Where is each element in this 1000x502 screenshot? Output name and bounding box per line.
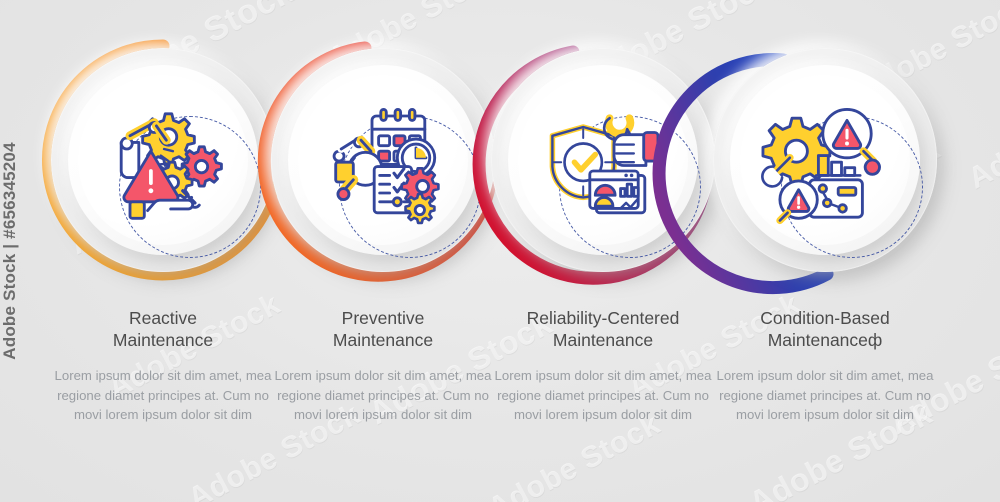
column-reactive-maintenance[interactable]: Reactive Maintenance Lorem ipsum dolor s… xyxy=(38,0,288,502)
column-title: Reliability-Centered Maintenance xyxy=(478,307,728,351)
column-title: Preventive Maintenance xyxy=(258,307,508,351)
circle-condition-based-maintenance[interactable] xyxy=(713,48,937,272)
column-body-text: Lorem ipsum dolor sit dim amet, mea regi… xyxy=(700,366,950,425)
column-body-text: Lorem ipsum dolor sit dim amet, mea regi… xyxy=(478,366,728,425)
column-body-text: Lorem ipsum dolor sit dim amet, mea regi… xyxy=(258,366,508,425)
title-line-1: Preventive xyxy=(342,308,425,328)
robot-arm-warning-gears-hand-icon xyxy=(97,94,229,226)
icon-disc xyxy=(78,75,248,245)
columns-container: Reactive Maintenance Lorem ipsum dolor s… xyxy=(0,0,1000,502)
infographic-canvas: Adobe StockAdobe StockAdobe StockAdobe S… xyxy=(0,0,1000,502)
title-line-1: Reliability-Centered xyxy=(527,308,680,328)
icon-disc xyxy=(298,75,468,245)
title-line-2: Maintenance xyxy=(333,330,433,350)
column-condition-based-maintenance[interactable]: Condition-Based Maintenanceф Lorem ipsum… xyxy=(700,0,950,502)
title-line-2: Maintenance xyxy=(553,330,653,350)
shield-check-hand-wrench-dashboard-icon xyxy=(537,94,669,226)
title-line-2: Maintenanceф xyxy=(768,330,883,350)
icon-disc xyxy=(740,75,910,245)
column-body-text: Lorem ipsum dolor sit dim amet, mea regi… xyxy=(38,366,288,425)
gear-wrench-magnifier-warning-chart-icon xyxy=(759,94,891,226)
calendar-clock-checklist-gears-icon xyxy=(317,94,449,226)
column-preventive-maintenance[interactable]: Preventive Maintenance Lorem ipsum dolor… xyxy=(258,0,508,502)
title-line-1: Reactive xyxy=(129,308,197,328)
column-title: Condition-Based Maintenanceф xyxy=(700,307,950,351)
title-line-2: Maintenance xyxy=(113,330,213,350)
title-line-1: Condition-Based xyxy=(760,308,889,328)
column-title: Reactive Maintenance xyxy=(38,307,288,351)
adobe-stock-credit: Adobe Stock | #656345204 xyxy=(0,142,20,359)
circle-preventive-maintenance[interactable] xyxy=(271,48,495,272)
circle-reactive-maintenance[interactable] xyxy=(51,48,275,272)
